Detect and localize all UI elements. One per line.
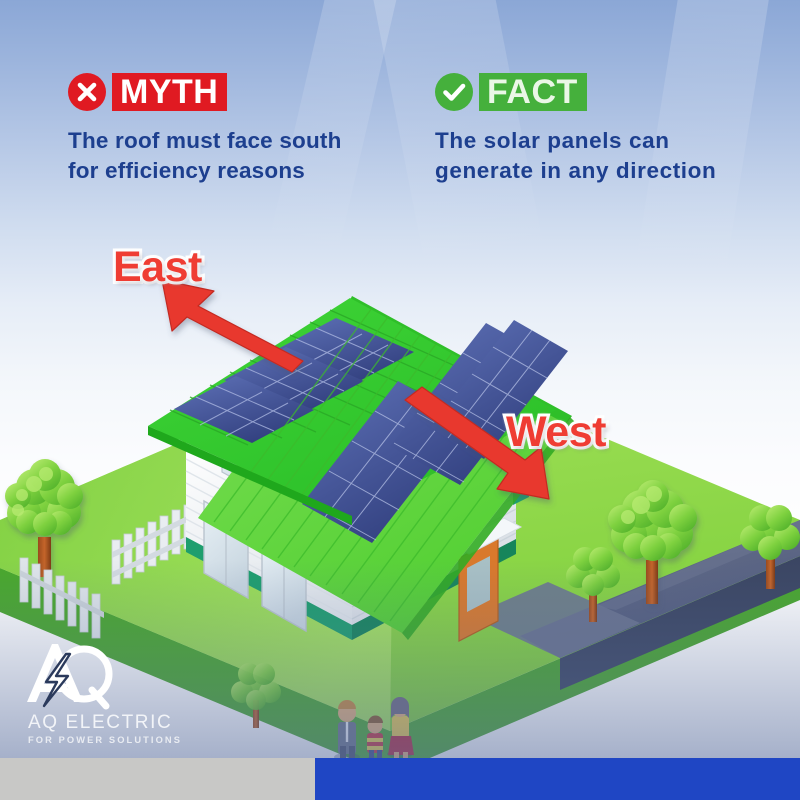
myth-text-line2: for efficiency reasons — [68, 156, 388, 186]
fact-text-line2: generate in any direction — [435, 156, 765, 186]
x-circle-icon — [68, 73, 106, 111]
header: MYTH The roof must face south for effici… — [0, 0, 800, 205]
logo-tagline: FOR POWER SOLUTIONS — [28, 735, 192, 745]
brand-logo: AQ ELECTRIC FOR POWER SOLUTIONS — [22, 640, 192, 745]
east-arrow — [162, 280, 303, 372]
logo-name: AQ ELECTRIC — [28, 712, 192, 734]
bottom-bar-right — [315, 758, 800, 800]
myth-badge-row: MYTH — [68, 70, 388, 114]
bottom-bar-left — [0, 758, 315, 800]
fact-text: The solar panels can generate in any dir… — [435, 126, 765, 185]
check-circle-icon — [435, 73, 473, 111]
infographic-canvas: MYTH The roof must face south for effici… — [0, 0, 800, 800]
myth-badge-label: MYTH — [112, 73, 227, 111]
west-label: West — [506, 408, 606, 457]
myth-text: The roof must face south for efficiency … — [68, 126, 388, 185]
fact-text-line1: The solar panels can — [435, 126, 765, 156]
myth-text-line1: The roof must face south — [68, 126, 388, 156]
east-label: East — [113, 243, 202, 292]
myth-column: MYTH The roof must face south for effici… — [68, 70, 388, 185]
aq-monogram-lightning-icon — [22, 640, 126, 710]
fact-column: FACT The solar panels can generate in an… — [435, 70, 765, 185]
fact-badge-row: FACT — [435, 70, 765, 114]
fact-badge-label: FACT — [479, 73, 587, 111]
